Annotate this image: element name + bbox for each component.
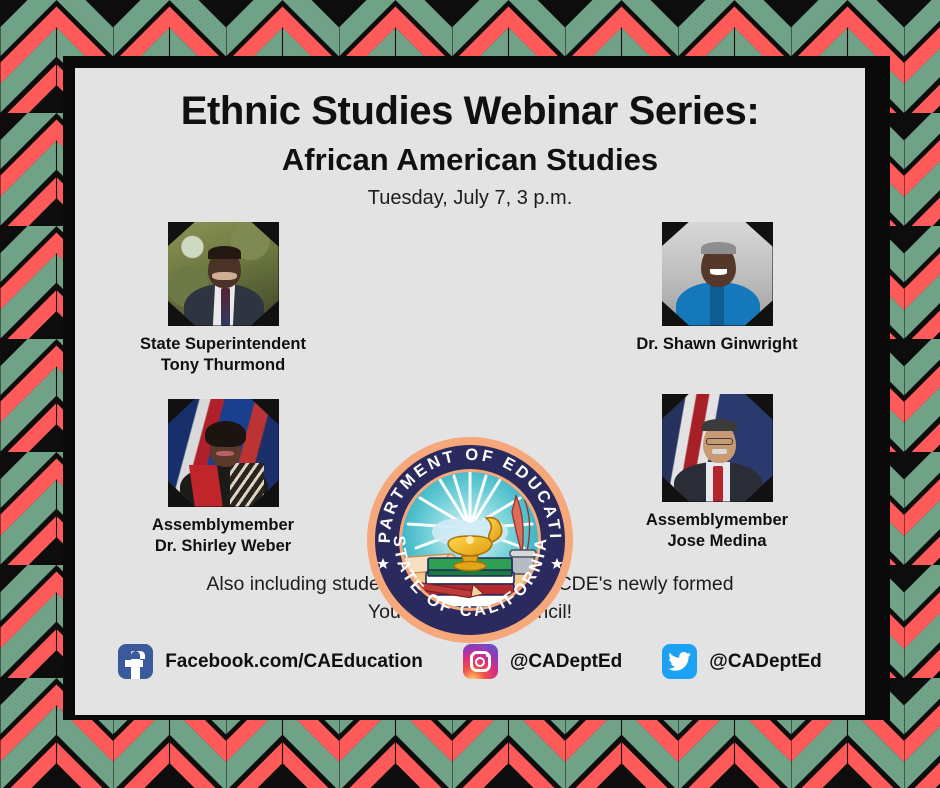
speaker-shirley-weber: Assemblymember Dr. Shirley Weber [98,399,348,557]
event-datetime: Tuesday, July 7, 3 p.m. [368,187,573,210]
page-subtitle: African American Studies [282,144,658,177]
speaker-name-line: Jose Medina [667,532,766,550]
speaker-title-line: Assemblymember [646,511,788,529]
photo-shirley-weber [168,399,279,507]
speaker-title-line: Assemblymember [152,516,294,534]
poster-card: Ethnic Studies Webinar Series: African A… [75,68,865,715]
speaker-name: State Superintendent Tony Thurmond [98,334,348,376]
facebook-handle: Facebook.com/CAEducation [165,651,423,673]
twitter-handle: @CADeptEd [709,651,821,673]
speakers-grid: State Superintendent Tony Thurmond [75,214,865,574]
photo-tony-thurmond [168,222,279,326]
speaker-title-line: State Superintendent [140,335,306,353]
speaker-name: Assemblymember Dr. Shirley Weber [98,515,348,557]
photo-shawn-ginwright [662,222,773,326]
social-links-row: Facebook.com/CAEducation @CADeptEd @CADe… [75,644,865,679]
speaker-name-line: Dr. Shawn Ginwright [636,335,797,353]
twitter-link[interactable]: @CADeptEd [662,644,821,679]
page-title: Ethnic Studies Webinar Series: [181,90,760,132]
cde-seal: DEPARTMENT OF EDUCATION STATE OF CALIFOR… [366,436,574,644]
twitter-icon[interactable] [662,644,697,679]
speaker-name-line: Dr. Shirley Weber [155,537,291,555]
instagram-link[interactable]: @CADeptEd [463,644,622,679]
instagram-handle: @CADeptEd [510,651,622,673]
photo-jose-medina [662,394,773,502]
speaker-name: Assemblymember Jose Medina [592,510,842,552]
facebook-icon[interactable] [118,644,153,679]
instagram-icon[interactable] [463,644,498,679]
speaker-jose-medina: Assemblymember Jose Medina [592,394,842,552]
speaker-name: Dr. Shawn Ginwright [592,334,842,355]
facebook-link[interactable]: Facebook.com/CAEducation [118,644,423,679]
speaker-name-line: Tony Thurmond [161,356,285,374]
poster-root: Ethnic Studies Webinar Series: African A… [0,0,940,788]
speaker-shawn-ginwright: Dr. Shawn Ginwright [592,222,842,355]
speaker-tony-thurmond: State Superintendent Tony Thurmond [98,222,348,376]
